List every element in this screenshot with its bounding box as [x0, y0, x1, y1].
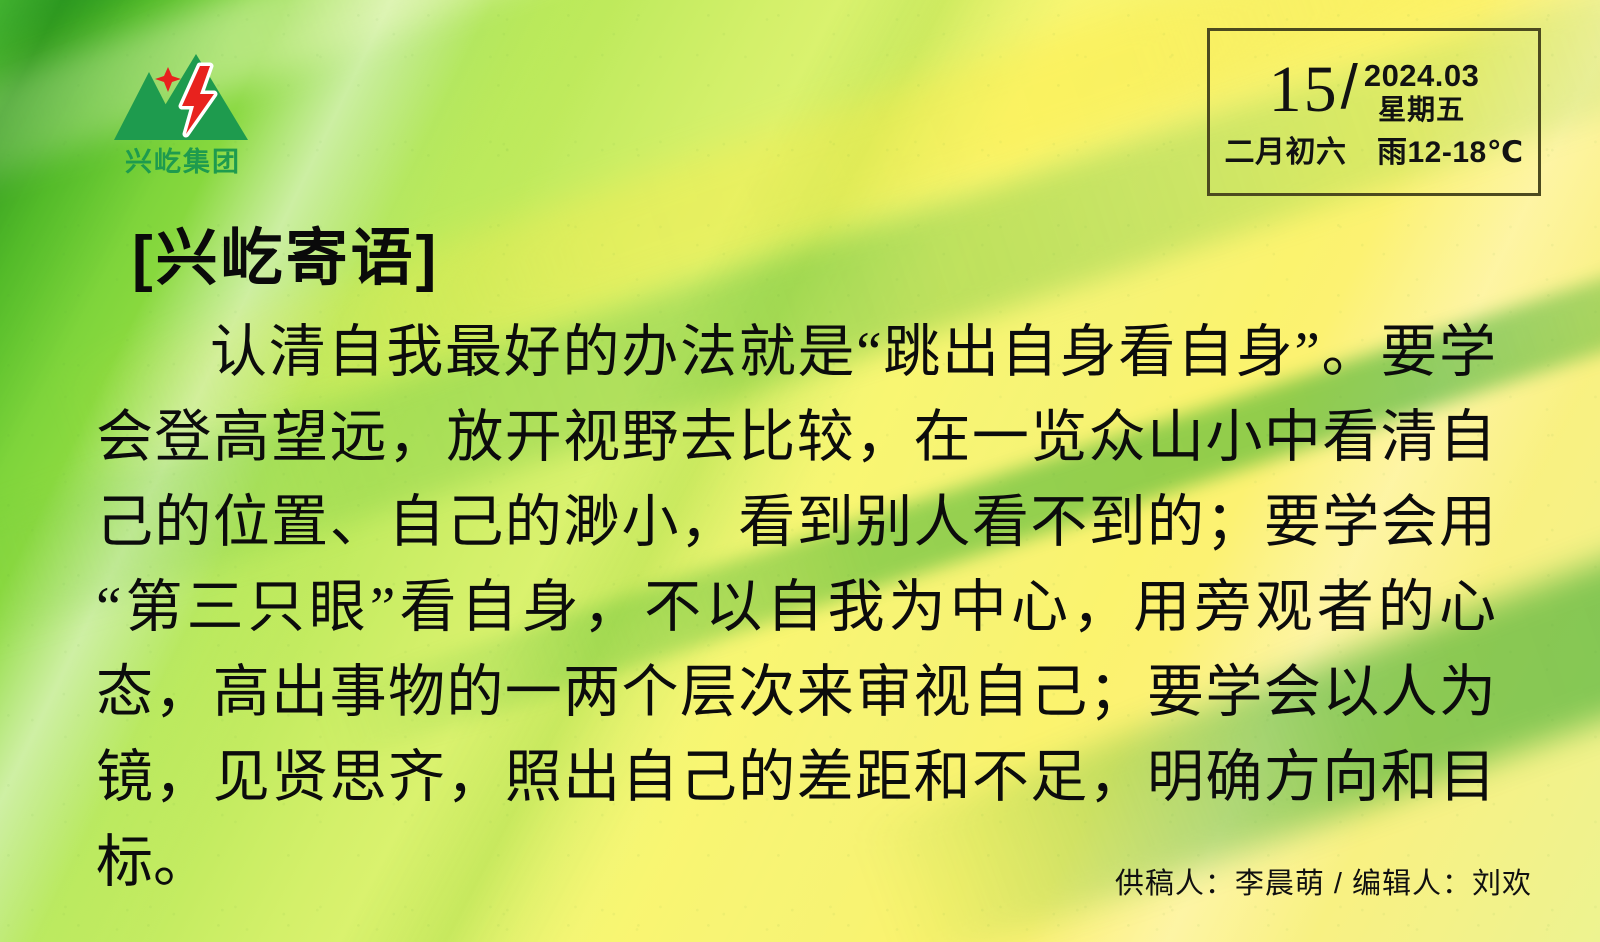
credit-line: 供稿人：李晨萌 / 编辑人：刘欢	[1115, 860, 1532, 902]
date-day-number: 15	[1269, 59, 1339, 122]
date-primary-row: 15 / 2024.03 星期五	[1210, 55, 1538, 125]
body-paragraph: 认清自我最好的办法就是“跳出自身看自身”。要学会登高望远，放开视野去比较，在一览…	[96, 310, 1496, 905]
date-year-month-group: 2024.03 星期五	[1364, 55, 1480, 125]
date-year-month: 2024.03	[1364, 59, 1480, 94]
date-weekday: 星期五	[1378, 94, 1465, 125]
company-logo: 兴屹集团	[108, 48, 258, 178]
poster-canvas: 兴屹集团 15 / 2024.03 星期五 二月初六 雨12-18℃ [兴屹寄语…	[0, 0, 1600, 942]
date-separator-slash: /	[1341, 60, 1358, 116]
body-copy: 认清自我最好的办法就是“跳出自身看自身”。要学会登高望远，放开视野去比较，在一览…	[96, 310, 1496, 905]
date-card: 15 / 2024.03 星期五 二月初六 雨12-18℃	[1207, 28, 1541, 196]
page-title: [兴屹寄语]	[132, 207, 439, 297]
company-name-label: 兴屹集团	[112, 140, 254, 179]
date-lunar-weather: 二月初六 雨12-18℃	[1210, 127, 1538, 171]
